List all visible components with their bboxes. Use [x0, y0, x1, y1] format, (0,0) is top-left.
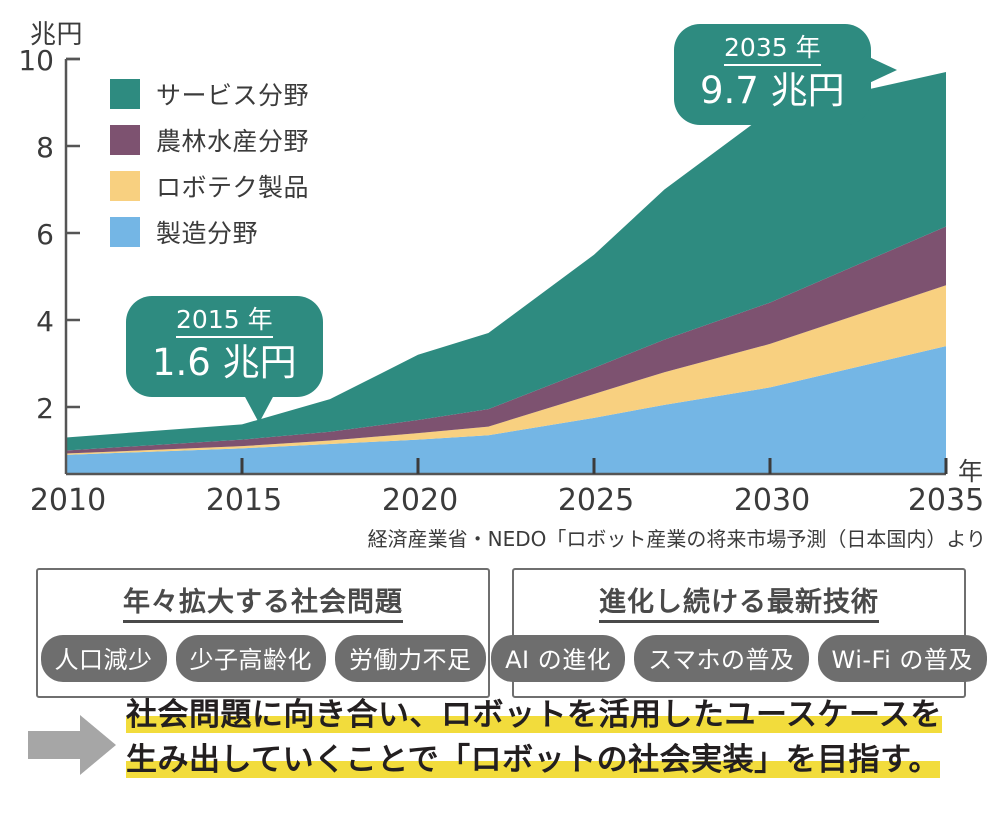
callout-year-label: 2015 年	[176, 304, 273, 338]
info-box-title: 年々拡大する社会問題	[123, 580, 403, 623]
conclusion-line-2-text: 生み出していくことで「ロボットの社会実装」を目指す。	[126, 742, 940, 778]
legend-item-agriculture: 農林水産分野	[110, 124, 309, 156]
legend-label: 製造分野	[156, 214, 258, 250]
legend-swatch-icon	[110, 79, 140, 109]
legend-item-manufacturing: 製造分野	[110, 216, 309, 248]
conclusion-line-2: 生み出していくことで「ロボットの社会実装」を目指す。	[126, 745, 940, 776]
x-tick-2010: 2010	[8, 483, 128, 518]
conclusion-text: 社会問題に向き合い、ロボットを活用したユースケースを 生み出していくことで「ロボ…	[126, 700, 972, 790]
legend-label: 農林水産分野	[156, 122, 309, 158]
legend-swatch-icon	[110, 171, 140, 201]
callout-2035: 2035 年 9.7 兆円	[674, 24, 871, 125]
pill-row: 人口減少 少子高齢化 労働力不足	[38, 635, 488, 682]
pill-row: AI の進化 スマホの普及 Wi-Fi の普及	[514, 635, 964, 682]
info-box-technologies: 進化し続ける最新技術 AI の進化 スマホの普及 Wi-Fi の普及	[512, 568, 966, 698]
y-tick-2: 2	[14, 392, 54, 425]
pill-item: スマホの普及	[634, 635, 808, 682]
callout-bubble: 2015 年 1.6 兆円	[126, 296, 323, 397]
x-tick-2015: 2015	[184, 483, 304, 518]
callout-tail-icon	[244, 395, 274, 423]
pill-item: Wi-Fi の普及	[818, 635, 987, 682]
callout-value-label: 1.6 兆円	[152, 342, 297, 385]
conclusion-section: 社会問題に向き合い、ロボットを活用したユースケースを 生み出していくことで「ロボ…	[28, 700, 972, 790]
callout-year-label: 2035 年	[724, 32, 821, 66]
info-box-row: 年々拡大する社会問題 人口減少 少子高齢化 労働力不足 進化し続ける最新技術 A…	[36, 568, 966, 698]
legend-label: サービス分野	[156, 76, 309, 112]
callout-bubble: 2035 年 9.7 兆円	[674, 24, 871, 125]
chart-legend: サービス分野 農林水産分野 ロボテク製品 製造分野	[110, 78, 309, 262]
x-tick-2025: 2025	[536, 483, 656, 518]
info-box-title: 進化し続ける最新技術	[599, 580, 879, 623]
legend-swatch-icon	[110, 125, 140, 155]
legend-swatch-icon	[110, 217, 140, 247]
legend-item-service: サービス分野	[110, 78, 309, 110]
pill-item: 少子高齢化	[176, 635, 327, 682]
infographic-root: 兆円 年 10 8 6 4 2 2010 2015 2020 2025 2030…	[0, 0, 1000, 840]
pill-item: 労働力不足	[335, 635, 486, 682]
conclusion-line-1: 社会問題に向き合い、ロボットを活用したユースケースを	[126, 700, 942, 731]
legend-item-robotech: ロボテク製品	[110, 170, 309, 202]
callout-2015: 2015 年 1.6 兆円	[126, 296, 323, 397]
y-tick-10: 10	[14, 44, 54, 77]
conclusion-line-1-text: 社会問題に向き合い、ロボットを活用したユースケースを	[126, 697, 942, 733]
y-tick-6: 6	[14, 218, 54, 251]
info-box-social-issues: 年々拡大する社会問題 人口減少 少子高齢化 労働力不足	[36, 568, 490, 698]
callout-value-label: 9.7 兆円	[700, 70, 845, 113]
callout-tail-icon	[867, 56, 897, 84]
chart-source-note: 経済産業省・NEDO「ロボット産業の将来市場予測（日本国内）より	[368, 523, 986, 552]
right-arrow-icon	[28, 713, 118, 777]
x-tick-2030: 2030	[712, 483, 832, 518]
x-tick-2035: 2035	[886, 483, 1000, 518]
y-tick-8: 8	[14, 131, 54, 164]
pill-item: 人口減少	[41, 635, 167, 682]
legend-label: ロボテク製品	[156, 168, 309, 204]
x-tick-2020: 2020	[360, 483, 480, 518]
y-tick-4: 4	[14, 305, 54, 338]
stacked-area-chart: 兆円 年 10 8 6 4 2 2010 2015 2020 2025 2030…	[0, 0, 1000, 560]
pill-item: AI の進化	[491, 635, 625, 682]
